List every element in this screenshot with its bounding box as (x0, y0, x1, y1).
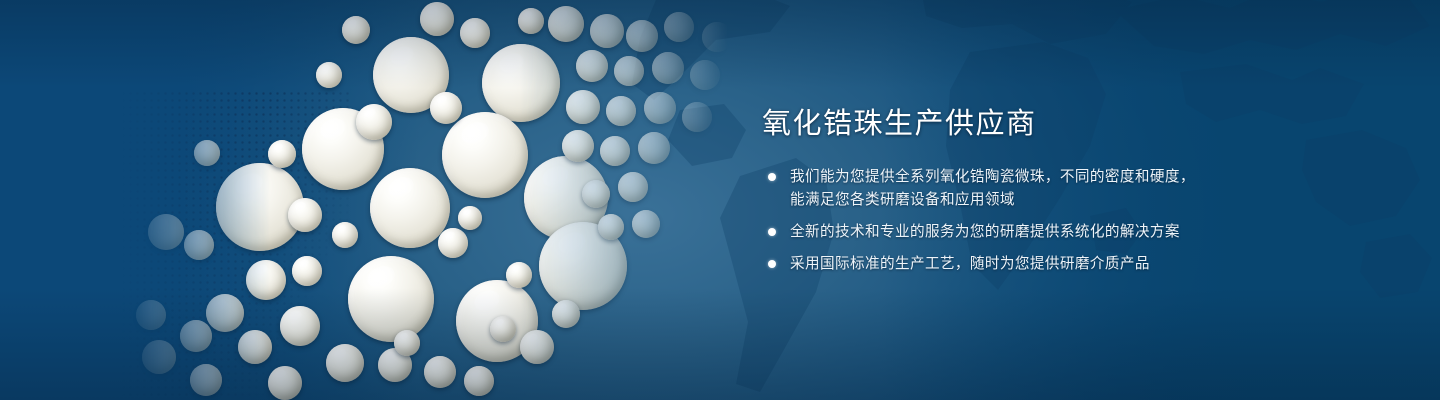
list-item: 我们能为您提供全系列氧化锆陶瓷微珠，不同的密度和硬度， 能满足您各类研磨设备和应… (762, 166, 1322, 212)
bullet-dot-icon (768, 228, 776, 236)
list-item-line: 采用国际标准的生产工艺，随时为您提供研磨介质产品 (790, 253, 1322, 276)
hero-banner: 氧化锆珠生产供应商 我们能为您提供全系列氧化锆陶瓷微珠，不同的密度和硬度， 能满… (0, 0, 1440, 400)
list-item-line: 我们能为您提供全系列氧化锆陶瓷微珠，不同的密度和硬度， (790, 166, 1322, 189)
list-item: 采用国际标准的生产工艺，随时为您提供研磨介质产品 (762, 253, 1322, 276)
feature-list: 我们能为您提供全系列氧化锆陶瓷微珠，不同的密度和硬度， 能满足您各类研磨设备和应… (762, 166, 1322, 276)
bullet-dot-icon (768, 260, 776, 268)
bullet-dot-icon (768, 173, 776, 181)
banner-copy: 氧化锆珠生产供应商 我们能为您提供全系列氧化锆陶瓷微珠，不同的密度和硬度， 能满… (762, 104, 1322, 276)
list-item-line: 全新的技术和专业的服务为您的研磨提供系统化的解决方案 (790, 221, 1322, 244)
list-item: 全新的技术和专业的服务为您的研磨提供系统化的解决方案 (762, 221, 1322, 244)
list-item-line: 能满足您各类研磨设备和应用领域 (790, 189, 1322, 212)
page-title: 氧化锆珠生产供应商 (762, 104, 1322, 144)
